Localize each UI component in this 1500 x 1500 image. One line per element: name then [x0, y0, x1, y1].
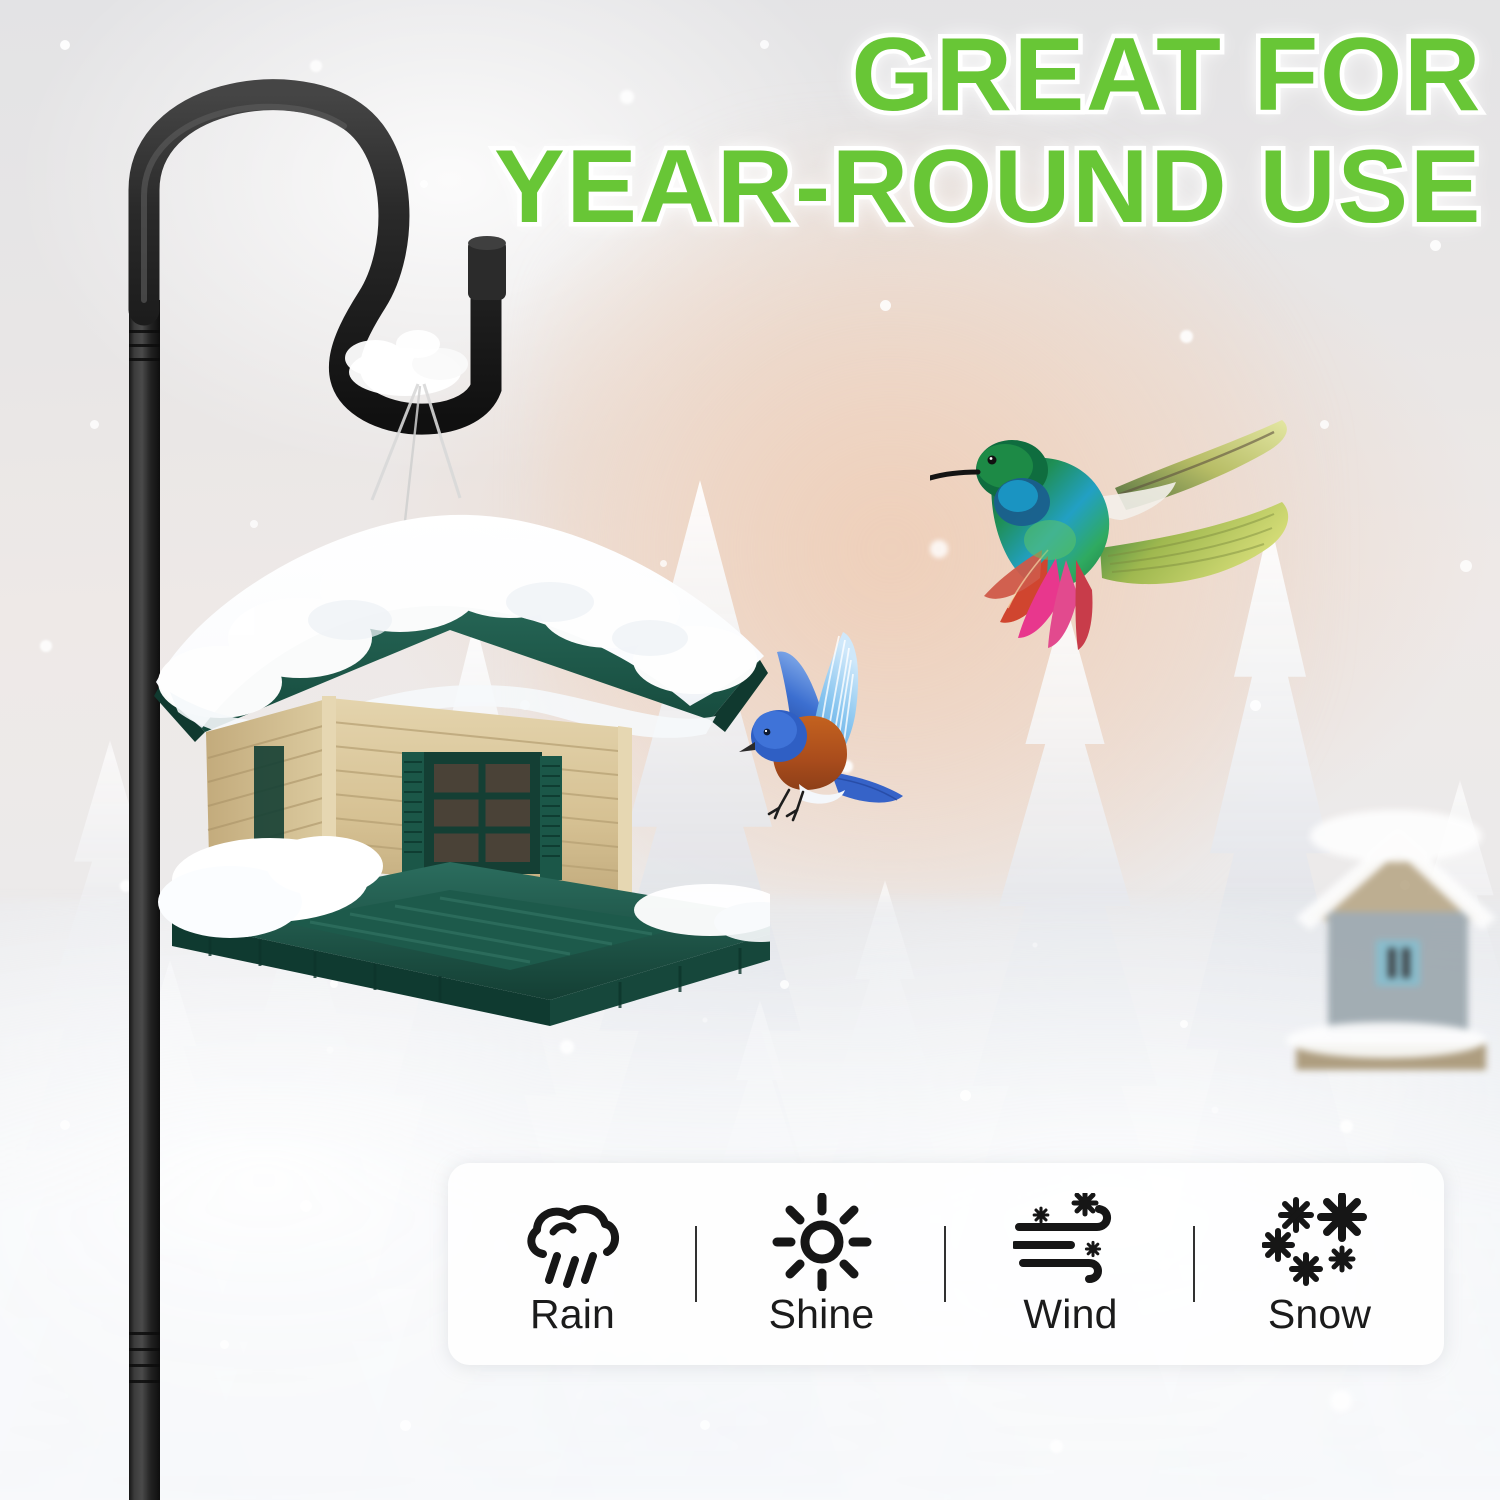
feature-label-wind: Wind: [1023, 1294, 1117, 1335]
feature-label-rain: Rain: [530, 1294, 615, 1335]
feature-item-snow: Snow: [1195, 1163, 1444, 1365]
wind-icon: [946, 1194, 1195, 1290]
sun-icon: [697, 1194, 946, 1290]
eastern-bluebird: [735, 618, 985, 848]
hummingbird-tail: [984, 550, 1092, 650]
feature-item-shine: Shine: [697, 1163, 946, 1365]
feature-item-rain: Rain: [448, 1163, 697, 1365]
bluebird-graphic: [735, 618, 985, 848]
weather-features-panel: Rain: [448, 1163, 1444, 1365]
feature-item-wind: Wind: [946, 1163, 1195, 1365]
background-birdhouse: [1276, 800, 1500, 1140]
feeder-graphic: [150, 470, 770, 1070]
feature-label-shine: Shine: [769, 1294, 875, 1335]
snowflakes-icon: [1195, 1194, 1444, 1290]
product-marketing-image: GREAT FOR YEAR-ROUND USE Rain: [0, 0, 1500, 1500]
feature-label-snow: Snow: [1268, 1294, 1371, 1335]
hummingbird: [930, 398, 1320, 698]
hummingbird-graphic: [930, 398, 1320, 698]
rain-cloud-icon: [448, 1194, 697, 1290]
house-bird-feeder: [150, 470, 770, 1070]
